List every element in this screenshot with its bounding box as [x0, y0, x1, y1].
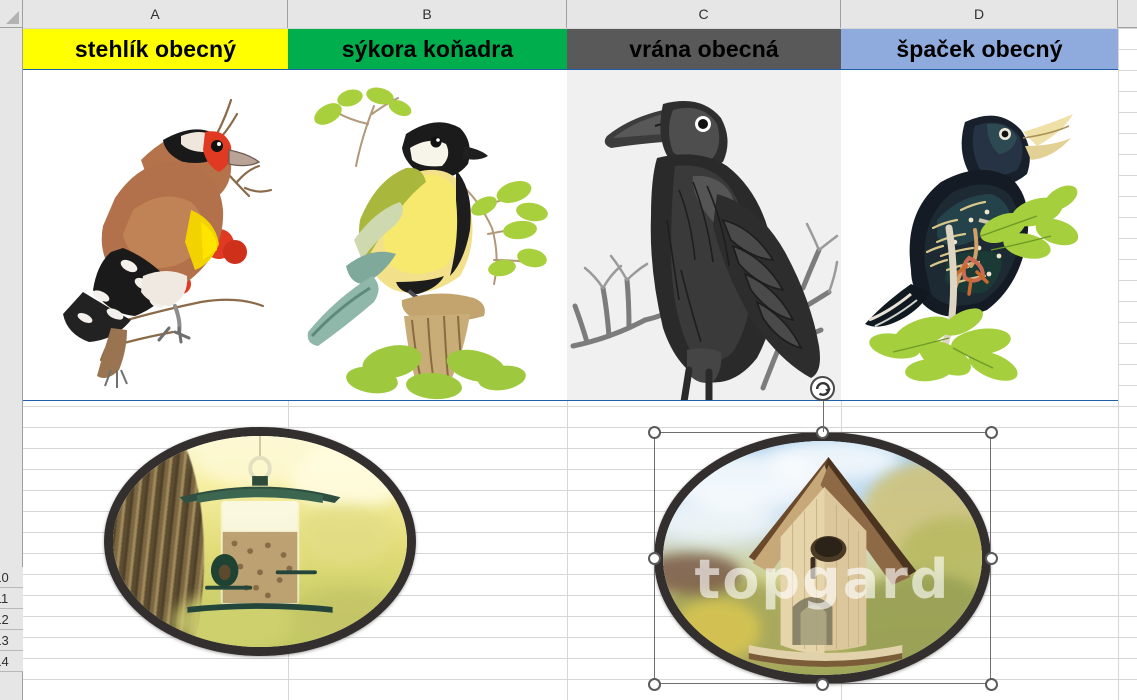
column-header-label: C [698, 6, 708, 22]
cell-d2[interactable] [841, 70, 1118, 400]
cell-c1[interactable]: vrána obecná [567, 29, 841, 69]
birdhouse-photo[interactable]: topgard [654, 432, 991, 684]
rotate-icon [814, 380, 832, 398]
crow-illustration [567, 70, 841, 400]
cell-b1[interactable]: sýkora koňadra [288, 29, 567, 69]
resize-handle-top-right[interactable] [985, 426, 998, 439]
row-header-label: 13 [0, 633, 9, 648]
gridline-horizontal [23, 427, 1137, 428]
column-header-label: D [974, 6, 984, 22]
cell-text: sýkora koňadra [342, 36, 513, 63]
column-header-label: B [422, 6, 431, 22]
column-header-b[interactable]: B [288, 0, 567, 28]
cell-b2[interactable] [288, 70, 567, 400]
column-header-label: A [150, 6, 159, 22]
cell-a2[interactable] [23, 70, 288, 400]
row-header-13[interactable]: 13 [0, 630, 23, 651]
resize-handle-bottom-center[interactable] [816, 678, 829, 691]
cell-text: vrána obecná [629, 36, 779, 63]
column-header-c[interactable]: C [567, 0, 841, 28]
resize-handle-top-left[interactable] [648, 426, 661, 439]
column-header-row[interactable]: ABCD [0, 0, 1137, 28]
select-all-corner[interactable] [0, 0, 23, 28]
cell-a1[interactable]: stehlík obecný [23, 29, 288, 69]
row-header-label: 11 [0, 591, 8, 606]
resize-handle-middle-left[interactable] [648, 552, 661, 565]
cell-text: špaček obecný [896, 36, 1062, 63]
cell-d1[interactable]: špaček obecný [841, 29, 1118, 69]
goldfinch-illustration [23, 70, 288, 400]
cell-text: stehlík obecný [75, 36, 236, 63]
row-header-12[interactable]: 12 [0, 609, 23, 630]
select-all-triangle-icon [6, 11, 19, 24]
gridline-horizontal [23, 406, 1137, 407]
resize-handle-middle-right[interactable] [985, 552, 998, 565]
rotate-handle[interactable] [810, 376, 835, 401]
gridline-vertical [1118, 28, 1119, 700]
spreadsheet-canvas[interactable]: stehlík obecnýsýkora koňadravrána obecná… [0, 0, 1137, 700]
row-header-label: 10 [0, 570, 9, 585]
rotate-handle-stem [823, 400, 824, 432]
starling-illustration [841, 70, 1118, 400]
birdhouse-graphic [654, 432, 991, 684]
bird-feeder-photo[interactable] [104, 427, 416, 656]
resize-handle-bottom-right[interactable] [985, 678, 998, 691]
great-tit-illustration [288, 70, 567, 400]
column-header-a[interactable]: A [23, 0, 288, 28]
gridline-horizontal [23, 679, 1137, 680]
row-header-11[interactable]: 11 [0, 588, 23, 609]
feeder-graphic [104, 427, 416, 656]
row-header-label: 12 [0, 612, 9, 627]
row-header-10[interactable]: 10 [0, 567, 23, 588]
column-header-d[interactable]: D [841, 0, 1118, 28]
row-header-14[interactable]: 14 [0, 651, 23, 672]
cell-c2[interactable] [567, 70, 841, 400]
row-header-label: 14 [0, 654, 9, 669]
resize-handle-bottom-left[interactable] [648, 678, 661, 691]
